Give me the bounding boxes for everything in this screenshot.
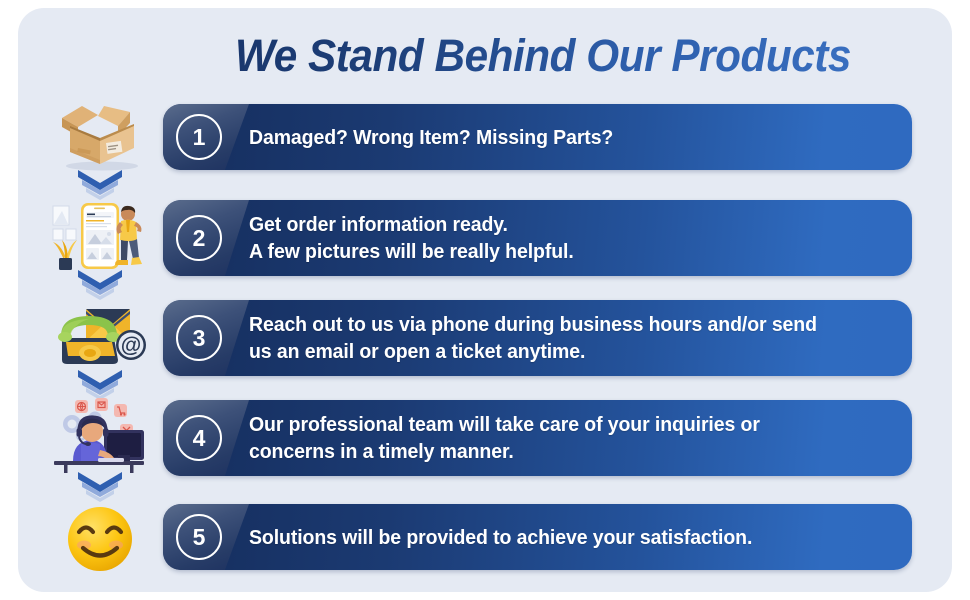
step-text-3: Reach out to us via phone during busines…	[249, 311, 836, 365]
step-text-2-line-1: Get order information ready.	[249, 211, 574, 238]
step-text-2-line-2: A few pictures will be really helpful.	[249, 238, 574, 265]
step-bar-5[interactable]: 5 Solutions will be provided to achieve …	[163, 504, 912, 570]
step-text-3-line-2: us an email or open a ticket anytime.	[249, 338, 817, 365]
step-text-4: Our professional team will take care of …	[249, 411, 779, 465]
step-text-4-line-1: Our professional team will take care of …	[249, 411, 760, 438]
step-text-5-line-1: Solutions will be provided to achieve yo…	[249, 524, 752, 551]
chevron-down-arrow-1	[74, 168, 126, 202]
chevron-down-arrow-2	[74, 268, 126, 302]
step-text-5: Solutions will be provided to achieve yo…	[249, 524, 771, 551]
step-text-2: Get order information ready. A few pictu…	[249, 211, 593, 265]
support-agent-icon	[48, 398, 152, 476]
phone-email-contact-icon: @	[48, 298, 152, 376]
page-title: We Stand Behind Our Products	[186, 26, 900, 86]
chevron-down-arrow-4	[74, 470, 126, 504]
step-bar-2[interactable]: 2 Get order information ready. A few pic…	[163, 200, 912, 276]
step-bar-1-inner: 1 Damaged? Wrong Item? Missing Parts?	[163, 104, 912, 170]
infographic-root: We Stand Behind Our Products	[0, 0, 970, 600]
smartphone-order-info-icon	[48, 198, 152, 276]
step-bar-4-inner: 4 Our professional team will take care o…	[163, 400, 912, 476]
step-text-1: Damaged? Wrong Item? Missing Parts?	[249, 124, 632, 151]
step-bar-3-inner: 3 Reach out to us via phone during busin…	[163, 300, 912, 376]
step-text-4-line-2: concerns in a timely manner.	[249, 438, 760, 465]
step-number-1: 1	[176, 114, 222, 160]
step-bar-2-inner: 2 Get order information ready. A few pic…	[163, 200, 912, 276]
step-number-3: 3	[176, 315, 222, 361]
step-bar-4[interactable]: 4 Our professional team will take care o…	[163, 400, 912, 476]
step-text-3-line-1: Reach out to us via phone during busines…	[249, 311, 817, 338]
chevron-down-arrow-3	[74, 368, 126, 402]
step-bar-3[interactable]: 3 Reach out to us via phone during busin…	[163, 300, 912, 376]
step-bar-1[interactable]: 1 Damaged? Wrong Item? Missing Parts?	[163, 104, 912, 170]
step-number-2: 2	[176, 215, 222, 261]
open-cardboard-box-icon	[48, 96, 152, 174]
smiley-face-icon	[48, 500, 152, 578]
step-number-4: 4	[176, 415, 222, 461]
svg-text:@: @	[121, 334, 141, 357]
step-number-5: 5	[176, 514, 222, 560]
step-text-1-line-1: Damaged? Wrong Item? Missing Parts?	[249, 124, 613, 151]
step-bar-5-inner: 5 Solutions will be provided to achieve …	[163, 504, 912, 570]
